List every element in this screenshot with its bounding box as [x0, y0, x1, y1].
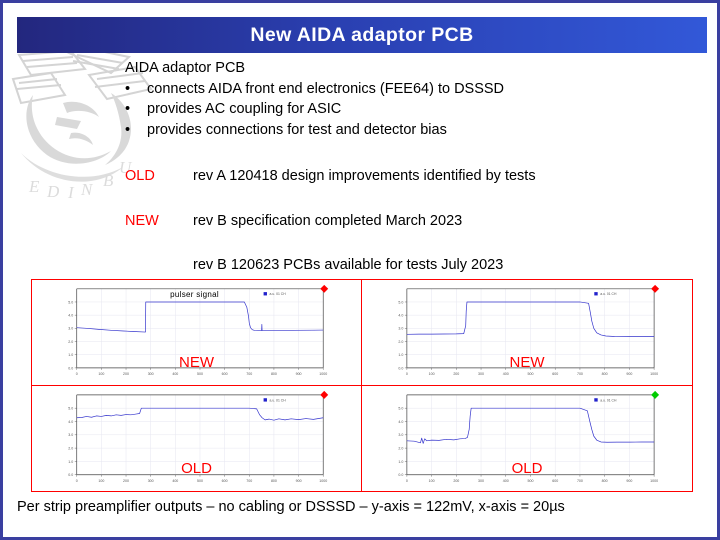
bullet-marker: •	[125, 123, 147, 138]
svg-text:4.0: 4.0	[398, 419, 403, 423]
revision-row-new: NEW rev B specification completed March …	[125, 214, 700, 229]
svg-text:1000: 1000	[319, 479, 327, 483]
svg-text:500: 500	[197, 479, 203, 483]
svg-text:100: 100	[98, 479, 104, 483]
svg-text:5.0: 5.0	[68, 406, 73, 410]
svg-text:800: 800	[602, 372, 608, 376]
svg-text:100: 100	[429, 372, 435, 376]
slide-root: E D I N B U New AIDA adaptor PCB AIDA ad…	[0, 0, 720, 540]
svg-text:900: 900	[626, 479, 632, 483]
slide-title-bar: New AIDA adaptor PCB	[17, 17, 707, 53]
svg-text:600: 600	[222, 372, 228, 376]
svg-text:300: 300	[148, 372, 154, 376]
svg-text:0: 0	[406, 372, 408, 376]
body-text-block: AIDA adaptor PCB • connects AIDA front e…	[125, 61, 700, 273]
scope-cell-top-left: 010020030040050060070080090010000.01.02.…	[32, 280, 362, 386]
svg-text:0: 0	[76, 372, 78, 376]
svg-text:800: 800	[602, 479, 608, 483]
svg-text:D: D	[46, 182, 60, 201]
svg-text:2.0: 2.0	[398, 446, 403, 450]
scope-cell-bottom-right: 010020030040050060070080090010000.01.02.…	[362, 386, 692, 492]
bullet-item: • provides AC coupling for ASIC	[125, 102, 700, 117]
revision-tag-new: NEW	[125, 214, 193, 229]
svg-text:5.0: 5.0	[398, 406, 403, 410]
svg-text:600: 600	[552, 372, 558, 376]
svg-text:0.0: 0.0	[398, 366, 403, 370]
svg-text:1.0: 1.0	[398, 353, 403, 357]
revision-row-available: rev B 120623 PCBs available for tests Ju…	[125, 258, 700, 273]
svg-text:400: 400	[172, 372, 178, 376]
svg-text:500: 500	[197, 372, 203, 376]
scope-chart-svg: 010020030040050060070080090010000.01.02.…	[32, 280, 361, 385]
bullet-label: connects AIDA front end electronics (FEE…	[147, 82, 700, 97]
bullet-marker: •	[125, 102, 147, 117]
svg-text:900: 900	[296, 372, 302, 376]
svg-text:I: I	[67, 183, 75, 202]
revision-desc-available: rev B 120623 PCBs available for tests Ju…	[193, 258, 700, 273]
svg-text:200: 200	[453, 479, 459, 483]
bullet-marker: •	[125, 82, 147, 97]
svg-text:700: 700	[577, 479, 583, 483]
scope-corner-marker	[320, 390, 328, 398]
bullet-item: • connects AIDA front end electronics (F…	[125, 82, 700, 97]
bullet-item: • provides connections for test and dete…	[125, 123, 700, 138]
scope-chart-svg: 010020030040050060070080090010000.01.02.…	[362, 280, 692, 385]
svg-text:3.0: 3.0	[68, 433, 73, 437]
svg-text:1000: 1000	[319, 372, 327, 376]
svg-text:100: 100	[98, 372, 104, 376]
svg-text:200: 200	[123, 372, 129, 376]
svg-text:400: 400	[172, 479, 178, 483]
revision-desc-new: rev B specification completed March 2023	[193, 214, 700, 229]
scope-chart-svg: 010020030040050060070080090010000.01.02.…	[362, 386, 692, 492]
intro-line: AIDA adaptor PCB	[125, 61, 700, 76]
svg-text:4.0: 4.0	[68, 314, 73, 318]
svg-text:3.0: 3.0	[398, 433, 403, 437]
svg-text:600: 600	[222, 479, 228, 483]
scope-plot-top-right: 010020030040050060070080090010000.01.02.…	[362, 280, 692, 385]
svg-text:E: E	[28, 177, 40, 196]
svg-text:2.0: 2.0	[68, 340, 73, 344]
bullet-label: provides connections for test and detect…	[147, 123, 700, 138]
scope-cell-top-right: 010020030040050060070080090010000.01.02.…	[362, 280, 692, 386]
svg-text:1.0: 1.0	[68, 459, 73, 463]
svg-text:900: 900	[626, 372, 632, 376]
svg-text:a.u. 01 CH: a.u. 01 CH	[270, 398, 287, 402]
scope-screenshot-grid: 010020030040050060070080090010000.01.02.…	[31, 279, 693, 492]
svg-text:3.0: 3.0	[398, 327, 403, 331]
slide-caption: Per strip preamplifier outputs – no cabl…	[17, 499, 707, 515]
svg-text:4.0: 4.0	[398, 314, 403, 318]
svg-text:0.0: 0.0	[68, 473, 73, 477]
scope-plot-top-left: 010020030040050060070080090010000.01.02.…	[32, 280, 361, 385]
svg-text:300: 300	[148, 479, 154, 483]
scope-chart-svg: 010020030040050060070080090010000.01.02.…	[32, 386, 361, 492]
svg-text:600: 600	[552, 479, 558, 483]
svg-text:0.0: 0.0	[398, 473, 403, 477]
page-title: New AIDA adaptor PCB	[250, 24, 473, 47]
scope-cell-bottom-left: 010020030040050060070080090010000.01.02.…	[32, 386, 362, 492]
svg-text:200: 200	[123, 479, 129, 483]
svg-text:1.0: 1.0	[68, 353, 73, 357]
svg-text:a.u. 01 CH: a.u. 01 CH	[600, 398, 617, 402]
svg-text:500: 500	[528, 479, 534, 483]
svg-text:800: 800	[271, 479, 277, 483]
svg-text:0.0: 0.0	[68, 366, 73, 370]
svg-text:700: 700	[246, 372, 252, 376]
svg-text:5.0: 5.0	[68, 300, 73, 304]
svg-text:2.0: 2.0	[398, 340, 403, 344]
svg-text:700: 700	[246, 479, 252, 483]
svg-text:500: 500	[527, 372, 533, 376]
svg-text:400: 400	[503, 372, 509, 376]
svg-text:1000: 1000	[650, 372, 658, 376]
revision-row-old: OLD rev A 120418 design improvements ide…	[125, 169, 700, 184]
svg-text:1.0: 1.0	[398, 459, 403, 463]
svg-text:4.0: 4.0	[68, 419, 73, 423]
svg-text:B: B	[103, 171, 114, 190]
svg-text:1000: 1000	[650, 479, 658, 483]
svg-text:200: 200	[453, 372, 459, 376]
svg-text:400: 400	[503, 479, 509, 483]
svg-text:5.0: 5.0	[398, 300, 403, 304]
svg-text:N: N	[80, 180, 94, 199]
scope-corner-marker	[651, 285, 659, 293]
svg-text:0: 0	[76, 479, 78, 483]
revision-tag-old: OLD	[125, 169, 193, 184]
scope-corner-marker	[651, 390, 659, 398]
svg-text:3.0: 3.0	[68, 327, 73, 331]
svg-text:300: 300	[478, 372, 484, 376]
svg-text:800: 800	[271, 372, 277, 376]
svg-text:a.u. 01 CH: a.u. 01 CH	[270, 292, 287, 296]
svg-text:100: 100	[429, 479, 435, 483]
svg-text:a.u. 01 CH: a.u. 01 CH	[600, 292, 617, 296]
revision-desc-old: rev A 120418 design improvements identif…	[193, 169, 700, 184]
scope-plot-bottom-right: 010020030040050060070080090010000.01.02.…	[362, 386, 692, 492]
svg-text:700: 700	[577, 372, 583, 376]
svg-text:300: 300	[478, 479, 484, 483]
svg-text:900: 900	[296, 479, 302, 483]
scope-corner-marker	[320, 285, 328, 293]
scope-plot-bottom-left: 010020030040050060070080090010000.01.02.…	[32, 386, 361, 492]
svg-text:0: 0	[406, 479, 408, 483]
bullet-label: provides AC coupling for ASIC	[147, 102, 700, 117]
svg-text:2.0: 2.0	[68, 446, 73, 450]
